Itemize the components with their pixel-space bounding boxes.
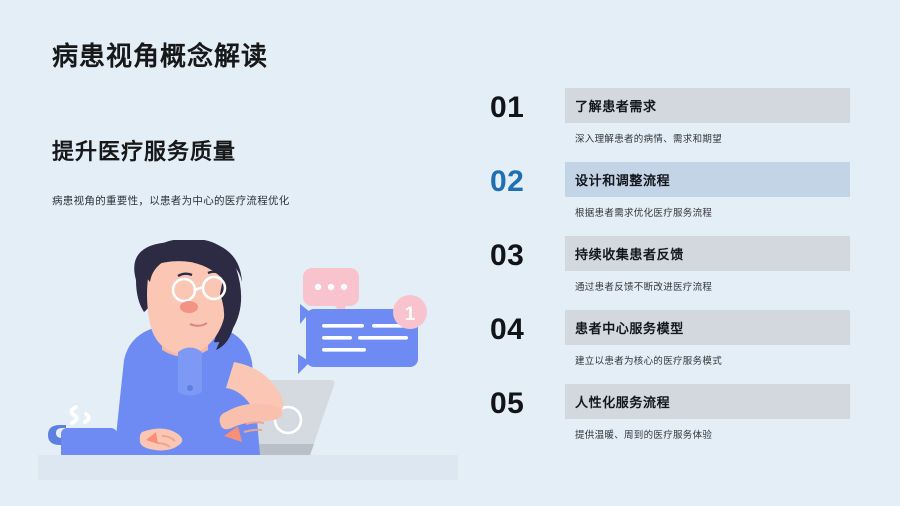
- step-title: 患者中心服务模型: [575, 318, 684, 337]
- step-item-02[interactable]: 02 设计和调整流程 根据患者需求优化医疗服务流程: [490, 162, 850, 236]
- step-title: 人性化服务流程: [575, 392, 670, 411]
- notification-badge-count: 1: [405, 304, 416, 325]
- step-description: 根据患者需求优化医疗服务流程: [565, 205, 850, 219]
- steam-icon: [71, 407, 88, 423]
- step-number: 02: [490, 164, 554, 200]
- illustration-woman-at-laptop: 1: [38, 240, 458, 480]
- page-title: 病患视角概念解读: [52, 36, 268, 73]
- step-title: 设计和调整流程: [575, 170, 670, 189]
- step-content: 了解患者需求 深入理解患者的病情、需求和期望: [565, 88, 850, 145]
- person-figure: [114, 240, 283, 455]
- step-item-01[interactable]: 01 了解患者需求 深入理解患者的病情、需求和期望: [490, 88, 850, 162]
- slide-canvas: 病患视角概念解读 提升医疗服务质量 病患视角的重要性，以患者为中心的医疗流程优化: [0, 0, 900, 506]
- section-subtitle: 病患视角的重要性，以患者为中心的医疗流程优化: [52, 193, 290, 208]
- step-title-bar: 了解患者需求: [565, 88, 850, 123]
- step-title-bar: 持续收集患者反馈: [565, 236, 850, 271]
- cheek-blush: [180, 301, 198, 313]
- step-item-03[interactable]: 03 持续收集患者反馈 通过患者反馈不断改进医疗流程: [490, 236, 850, 310]
- step-content: 人性化服务流程 提供温暖、周到的医疗服务体验: [565, 384, 850, 441]
- step-title: 持续收集患者反馈: [575, 244, 684, 263]
- step-title-bar: 人性化服务流程: [565, 384, 850, 419]
- notification-badge: 1: [393, 295, 427, 329]
- section-heading: 提升医疗服务质量: [52, 134, 236, 166]
- step-content: 患者中心服务模型 建立以患者为核心的医疗服务模式: [565, 310, 850, 367]
- step-content: 设计和调整流程 根据患者需求优化医疗服务流程: [565, 162, 850, 219]
- step-title-bar: 设计和调整流程: [565, 162, 850, 197]
- step-number: 01: [490, 90, 554, 126]
- step-title-bar: 患者中心服务模型: [565, 310, 850, 345]
- step-number: 04: [490, 312, 554, 348]
- step-description: 建立以患者为核心的医疗服务模式: [565, 353, 850, 367]
- step-description: 提供温暖、周到的医疗服务体验: [565, 427, 850, 441]
- step-item-05[interactable]: 05 人性化服务流程 提供温暖、周到的医疗服务体验: [490, 384, 850, 458]
- step-number: 05: [490, 386, 554, 422]
- steps-list: 01 了解患者需求 深入理解患者的病情、需求和期望 02 设计和调整流程 根据患…: [490, 88, 850, 458]
- step-description: 深入理解患者的病情、需求和期望: [565, 131, 850, 145]
- step-number: 03: [490, 238, 554, 274]
- step-description: 通过患者反馈不断改进医疗流程: [565, 279, 850, 293]
- chat-bubble-group: 1: [298, 268, 427, 374]
- step-title: 了解患者需求: [575, 96, 657, 115]
- step-content: 持续收集患者反馈 通过患者反馈不断改进医疗流程: [565, 236, 850, 293]
- step-item-04[interactable]: 04 患者中心服务模型 建立以患者为核心的医疗服务模式: [490, 310, 850, 384]
